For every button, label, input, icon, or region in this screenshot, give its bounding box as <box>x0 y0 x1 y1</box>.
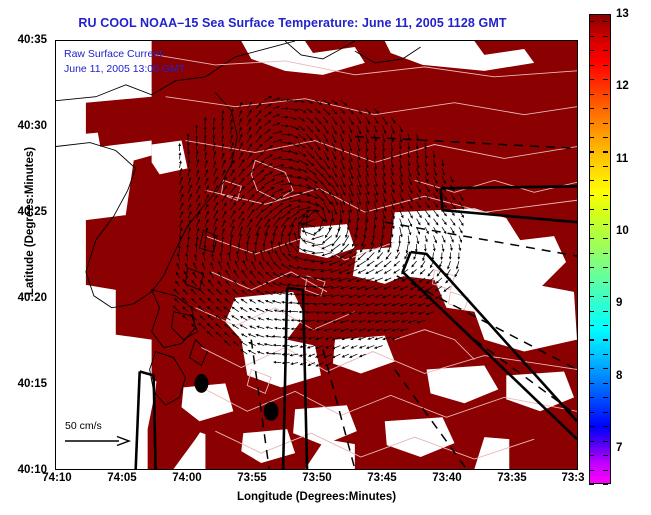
colorbar-tick <box>603 267 608 268</box>
map-canvas <box>56 41 577 469</box>
colorbar-tick-label: 10 <box>616 225 629 237</box>
colorbar-tick <box>589 36 594 37</box>
colorbar-tick-label: 13 <box>616 8 629 20</box>
colorbar-tick <box>589 180 594 181</box>
colorbar-tick <box>589 484 594 485</box>
colorbar-tick-label: 12 <box>616 80 629 92</box>
colorbar-tick <box>589 296 594 297</box>
colorbar-tick <box>589 455 594 456</box>
colorbar-tick <box>589 79 594 80</box>
colorbar-tick <box>589 282 594 283</box>
colorbar-tick <box>589 426 594 427</box>
colorbar-tick <box>589 441 594 442</box>
colorbar-tick <box>603 296 608 297</box>
colorbar-tick <box>589 94 594 95</box>
colorbar-tick <box>603 470 608 471</box>
colorbar-tick <box>589 151 594 152</box>
colorbar-tick <box>589 267 594 268</box>
y-tick-label: 40:35 <box>18 34 47 46</box>
colorbar-tick <box>603 65 608 66</box>
colorbar-tick <box>603 50 608 51</box>
colorbar-tick <box>603 79 608 80</box>
colorbar-tick <box>589 397 594 398</box>
colorbar-tick <box>603 108 608 109</box>
colorbar-tick <box>589 195 594 196</box>
temperature-colorbar[interactable] <box>589 14 611 484</box>
colorbar-tick-label: 8 <box>616 370 622 382</box>
sst-map-figure: RU COOL NOAA–15 Sea Surface Temperature:… <box>0 0 651 515</box>
x-tick-label: 73:45 <box>367 472 396 484</box>
x-tick-label: 73:50 <box>302 472 331 484</box>
colorbar-tick <box>603 339 608 340</box>
colorbar-tick-label: 11 <box>616 153 628 165</box>
colorbar-tick <box>589 238 594 239</box>
colorbar-tick-label: 9 <box>616 297 622 309</box>
y-axis-title: Latitude (Degrees:Minutes) <box>24 96 36 346</box>
colorbar-tick <box>589 311 594 312</box>
colorbar-tick <box>603 195 608 196</box>
colorbar-tick <box>603 325 608 326</box>
colorbar-tick <box>589 65 594 66</box>
x-tick-label: 74:00 <box>172 472 201 484</box>
y-tick-label: 40:15 <box>18 378 47 390</box>
colorbar-tick <box>603 383 608 384</box>
colorbar-tick <box>589 354 594 355</box>
colorbar-tick <box>603 36 608 37</box>
colorbar-tick <box>589 339 594 340</box>
colorbar-tick <box>603 412 608 413</box>
colorbar-tick <box>603 209 608 210</box>
colorbar-tick <box>603 354 608 355</box>
colorbar-tick <box>603 426 608 427</box>
colorbar-tick <box>589 470 594 471</box>
colorbar-tick-label: 7 <box>616 442 622 454</box>
colorbar-tick <box>589 137 594 138</box>
colorbar-tick <box>589 224 594 225</box>
colorbar-tick <box>603 94 608 95</box>
x-tick-label: 74:10 <box>42 472 71 484</box>
colorbar-tick <box>589 325 594 326</box>
colorbar-tick <box>603 455 608 456</box>
x-axis-title: Longitude (Degrees:Minutes) <box>55 491 578 503</box>
x-tick-label: 73:55 <box>237 472 266 484</box>
colorbar-tick <box>603 137 608 138</box>
colorbar-tick <box>603 282 608 283</box>
colorbar-tick <box>603 368 608 369</box>
colorbar-tick <box>589 209 594 210</box>
colorbar-tick <box>603 441 608 442</box>
colorbar-tick <box>589 412 594 413</box>
colorbar-tick <box>589 253 594 254</box>
x-tick-label: 73:40 <box>432 472 461 484</box>
station-marker <box>194 374 208 393</box>
colorbar-tick <box>603 180 608 181</box>
colorbar-tick <box>603 397 608 398</box>
map-plot-area[interactable]: Raw Surface Current June 11, 2005 13:00 … <box>55 40 578 470</box>
colorbar-tick <box>603 123 608 124</box>
colorbar-tick <box>589 108 594 109</box>
colorbar-tick <box>603 253 608 254</box>
colorbar-tick <box>603 166 608 167</box>
colorbar-tick <box>603 224 608 225</box>
scale-bar-label: 50 cm/s <box>65 420 133 432</box>
colorbar-tick <box>589 368 594 369</box>
colorbar-tick <box>603 21 608 22</box>
x-tick-label: 73:35 <box>497 472 526 484</box>
x-tick-label: 74:05 <box>107 472 136 484</box>
x-axis-tick-labels: 74:10 74:05 74:00 73:55 73:50 73:45 73:4… <box>55 472 578 492</box>
colorbar-tick <box>603 238 608 239</box>
colorbar-tick <box>589 50 594 51</box>
colorbar-tick <box>603 151 608 152</box>
station-marker <box>264 402 279 421</box>
colorbar-tick <box>603 484 608 485</box>
x-tick-label: 73:3 <box>561 472 584 484</box>
colorbar-tick <box>603 311 608 312</box>
colorbar-tick <box>589 166 594 167</box>
colorbar-tick <box>589 383 594 384</box>
colorbar-tick <box>589 21 594 22</box>
colorbar-tick <box>589 123 594 124</box>
figure-title: RU COOL NOAA–15 Sea Surface Temperature:… <box>0 16 585 30</box>
velocity-scale-bar: 50 cm/s <box>61 420 133 451</box>
right-arrow-icon <box>61 432 133 448</box>
